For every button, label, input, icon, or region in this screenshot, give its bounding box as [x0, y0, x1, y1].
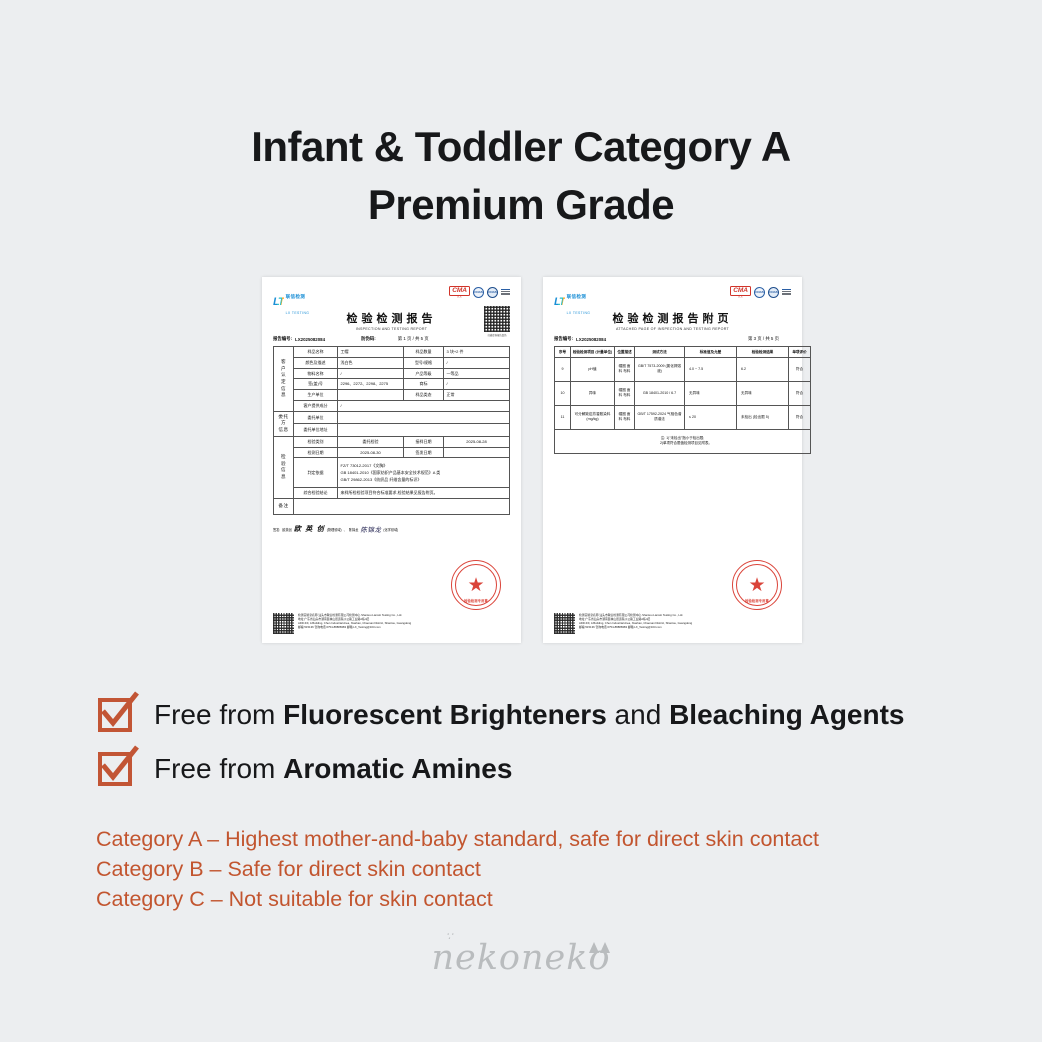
section-label-inspection: 检验信息: [274, 436, 294, 498]
footer-qr-code-icon: [273, 613, 294, 634]
feature-checklist: Free from Fluorescent Brighteners and Bl…: [96, 695, 996, 803]
report-main-table: 客户认定信息 样品名称 工帽 样品数量 3 块+2 件 颜色及描述 浅白色 型号…: [273, 346, 510, 515]
inspection-report-attached-page-document[interactable]: LT 联信检测 LX TESTING CMA 认定 CNAS CNAS: [543, 277, 802, 643]
note-item: 1)"未检出"指小于检出限;: [666, 436, 704, 440]
cell-key: 样品名称: [294, 347, 338, 358]
cell-item: 可分解致癌芳香胺染料 (mg/kg): [571, 405, 615, 429]
cell-key: 委托单位: [294, 411, 338, 423]
report-title-en: ATTACHED PAGE OF INSPECTION AND TESTING …: [554, 327, 791, 331]
table-row: 物料名称 / 产品等级 一等品: [274, 368, 510, 379]
basis-values: FZ/T 73012-2017《文胸》 GB 18401-2010《国家纺织产品…: [338, 458, 510, 488]
table-row: 判定依据 FZ/T 73012-2017《文胸》 GB 18401-2010《国…: [274, 458, 510, 488]
document-footer: 检测实验室名称:汕头市联信检测有限公司检测中心 Shantou Lianxin …: [273, 613, 510, 634]
cell-value: [338, 411, 510, 423]
category-line-b: Category B – Safe for direct skin contac…: [96, 854, 996, 884]
cell-key2: 商标: [404, 379, 444, 390]
cell-key: 签(盖)号: [294, 379, 338, 390]
cell-key: 物料名称: [294, 368, 338, 379]
column-header-no: 序号: [555, 347, 571, 358]
report-no-value: LX2025082084: [295, 337, 325, 342]
column-header-method: 测试方法: [635, 347, 685, 358]
category-line-c: Category C – Not suitable for skin conta…: [96, 884, 996, 914]
report-no-label: 报告编号:: [273, 336, 292, 342]
document-header: LT 联信检测 LX TESTING CMA 认定 CNAS CNAS: [273, 286, 510, 302]
cell-no: 9: [555, 357, 571, 381]
table-row: 生产单位 样品类态 正常: [274, 390, 510, 401]
category-line-a: Category A – Highest mother-and-baby sta…: [96, 824, 996, 854]
sparkle-icon: ∵: [445, 930, 453, 943]
cell-no: 11: [555, 405, 571, 429]
cell-value: [338, 390, 404, 401]
table-row: 11 可分解致癌芳香胺染料 (mg/kg) 帽圈 面料 布料 GB/T 1759…: [555, 405, 811, 429]
cell-key2: 接样日期: [404, 436, 444, 447]
cell-value2: 3 块+2 件: [444, 347, 510, 358]
footer-qr-code-icon: [554, 613, 575, 634]
accreditation-badges: CMA 认定 CNAS CNAS: [449, 286, 510, 298]
checklist-part-bold: Aromatic Amines: [283, 753, 512, 784]
cnas-badge-2: CNAS: [768, 287, 779, 298]
cnas-badge-2: CNAS: [487, 287, 498, 298]
official-red-seal: ★ 检验检测专用章: [451, 560, 501, 610]
accreditation-badge: [782, 289, 791, 296]
cell-value: [338, 424, 510, 436]
page-indicator: 第 3 页 / 共 5 页: [748, 336, 779, 342]
category-legend: Category A – Highest mother-and-baby sta…: [96, 824, 996, 914]
cell-standard: 无异味: [685, 381, 737, 405]
report-title-block: 检验检测报告 INSPECTION AND TESTING REPORT 扫描查…: [273, 310, 510, 331]
column-header-item: 检验检测项目 (计量单位): [571, 347, 615, 358]
cell-key2: 型号/规格: [404, 357, 444, 368]
basis-line: GB/T 29862-2013《纺织品 纤维含量的标识》: [341, 477, 507, 483]
footer-line: 邮编:515136 咨询电话:0754-88888383 邮箱:LX_Testi…: [298, 625, 411, 629]
section-label-client: 委托方信息: [274, 411, 294, 436]
cell-value2: [444, 447, 510, 458]
page-title: Infant & Toddler Category A Premium Grad…: [0, 118, 1042, 234]
verification-qr-code-icon: [484, 306, 510, 332]
checklist-text: Free from Aromatic Amines: [154, 752, 512, 786]
signature-field-1: (物理领域): [327, 527, 342, 532]
cma-badge-sub: 认定: [738, 296, 743, 299]
notes-label: 注:: [661, 436, 665, 440]
table-row: 检验信息 检验类别 委托检验 接样日期 2025-08-28: [274, 436, 510, 447]
cell-method: GB 18401-2010 / 6.7: [635, 381, 685, 405]
basis-line: FZ/T 73012-2017《文胸》: [341, 463, 507, 469]
table-row: 综合检验结论 来样所检检验项目符合标准要求,检验结果见报告附页。: [274, 488, 510, 499]
cell-value: 2296、2272、2298、2275: [338, 379, 404, 390]
page-title-line-2: Premium Grade: [0, 176, 1042, 234]
cnas-badge-1: CNAS: [754, 287, 765, 298]
section-label-customer: 客户认定信息: [274, 347, 294, 412]
signature-field-2: (化学领域): [383, 527, 398, 532]
cell-position: 帽圈 面料 布料: [615, 357, 635, 381]
cell-value: 2025-08-30: [338, 447, 404, 458]
inspection-report-document[interactable]: LT 联信检测 LX TESTING CMA 认定 CNAS CNAS: [262, 277, 521, 643]
signature-handwriting-2: 陈锦龙: [360, 524, 381, 534]
cma-badge: CMA 认定: [449, 286, 470, 298]
report-title-cn: 检验检测报告附页: [554, 310, 791, 326]
note-item: 2)单项符合限值检测项目见附表。: [558, 441, 808, 447]
lt-logo-mark: LT: [273, 296, 284, 308]
checklist-part: Free from: [154, 753, 283, 784]
table-row: 客户认定信息 样品名称 工帽 样品数量 3 块+2 件: [274, 347, 510, 358]
seal-star-icon: ★: [748, 576, 765, 595]
basis-label: 判定依据: [294, 458, 338, 488]
report-title-block: 检验检测报告附页 ATTACHED PAGE OF INSPECTION AND…: [554, 310, 791, 331]
cell-value2: /: [444, 379, 510, 390]
cell-key: 检测日期: [294, 447, 338, 458]
cell-standard: ≤ 20: [685, 405, 737, 429]
table-row: 9 pH值 帽圈 面料 布料 GB/T 7573-2009 (氯化钾溶液) 4.…: [555, 357, 811, 381]
cell-value2: 正常: [444, 390, 510, 401]
cell-value: /: [338, 400, 510, 411]
table-row: 颜色及描述 浅白色 型号/规格 /: [274, 357, 510, 368]
checklist-part-bold: Bleaching Agents: [669, 699, 904, 730]
cnas-badge-1: CNAS: [473, 287, 484, 298]
seal-bottom-text: 检验检测专用章: [733, 598, 781, 603]
cell-judgement: 符合: [789, 381, 811, 405]
report-no-label: 报告编号:: [554, 336, 573, 342]
cma-badge: CMA 认定: [730, 286, 751, 298]
checked-checkbox-icon: [96, 695, 136, 735]
signature-separator: 、: [344, 527, 347, 532]
lt-logo-cn: 联信检测: [286, 294, 306, 299]
table-row: 备注: [274, 499, 510, 515]
cell-judgement: 符合: [789, 357, 811, 381]
table-row: 委托方信息 委托单位: [274, 411, 510, 423]
checklist-part-bold: Fluorescent Brighteners: [283, 699, 607, 730]
official-red-seal: ★ 检验检测专用章: [732, 560, 782, 610]
cell-method: GB/T 17592-2024 气相色谱质谱法: [635, 405, 685, 429]
cell-value: 浅白色: [338, 357, 404, 368]
table-notes-row: 注: 1)"未检出"指小于检出限; 2)单项符合限值检测项目见附表。: [555, 429, 811, 453]
signature-prefix: 签发:: [273, 527, 280, 532]
signatory-name-2: 陈锦龙: [349, 527, 359, 532]
report-no-value: LX2025082084: [576, 337, 606, 342]
table-row: 签(盖)号 2296、2272、2298、2275 商标 /: [274, 379, 510, 390]
report-title-en: INSPECTION AND TESTING REPORT: [273, 327, 510, 331]
cell-value2: 一等品: [444, 368, 510, 379]
cell-value2: 2025-08-28: [444, 436, 510, 447]
seal-code-label: 防伪码:: [361, 336, 376, 342]
test-results-table: 序号 检验检测项目 (计量单位) 位置描述 测试方法 标准值及允差 检验检测结果…: [554, 346, 811, 454]
cell-method: GB/T 7573-2009 (氯化钾溶液): [635, 357, 685, 381]
cell-key2: 样品数量: [404, 347, 444, 358]
cell-position: 帽圈 面料 布料: [615, 405, 635, 429]
column-header-result: 检验检测结果: [737, 347, 789, 358]
cat-ears-icon: [589, 942, 615, 960]
table-row: 10 异味 帽圈 面料 布料 GB 18401-2010 / 6.7 无异味 无…: [555, 381, 811, 405]
report-title-cn: 检验检测报告: [273, 310, 510, 326]
accreditation-badge: [501, 289, 510, 296]
cell-position: 帽圈 面料 布料: [615, 381, 635, 405]
table-row: 委托单位地址: [274, 424, 510, 436]
table-header-row: 序号 检验检测项目 (计量单位) 位置描述 测试方法 标准值及允差 检验检测结果…: [555, 347, 811, 358]
table-row: 检测日期 2025-08-30 签发日期: [274, 447, 510, 458]
checklist-part: Free from: [154, 699, 283, 730]
document-footer: 检测实验室名称:汕头市联信检测有限公司检测中心 Shantou Lianxin …: [554, 613, 791, 634]
remarks-value: [294, 499, 510, 515]
remarks-label: 备注: [274, 499, 294, 515]
cell-item: 异味: [571, 381, 615, 405]
page-indicator: 第 1 页 / 共 5 页: [398, 336, 429, 342]
cell-key: 颜色及描述: [294, 357, 338, 368]
table-row: 客户提供成分 /: [274, 400, 510, 411]
cell-value: /: [338, 368, 404, 379]
footer-line: 邮编:515136 咨询电话:0754-88888383 邮箱:LX_Testi…: [579, 625, 692, 629]
lt-logo-cn: 联信检测: [567, 294, 587, 299]
column-header-judgement: 单项评价: [789, 347, 811, 358]
conclusion-value: 来样所检检验项目符合标准要求,检验结果见报告附页。: [338, 488, 510, 499]
brand-logo: ∵ nekoneko: [0, 938, 1042, 978]
cell-key: 委托单位地址: [294, 424, 338, 436]
column-header-position: 位置描述: [615, 347, 635, 358]
report-meta: 报告编号: LX2025082084 第 3 页 / 共 5 页: [554, 336, 791, 342]
seal-bottom-text: 检验检测专用章: [452, 598, 500, 603]
certificate-images: LT 联信检测 LX TESTING CMA 认定 CNAS CNAS: [262, 277, 803, 643]
cell-result: 无异味: [737, 381, 789, 405]
cell-value: 委托检验: [338, 436, 404, 447]
signature-line: 签发: 欧英创 欧 英 创 (物理领域) 、 陈锦龙 陈锦龙 (化学领域): [273, 524, 510, 534]
list-item: Free from Fluorescent Brighteners and Bl…: [96, 695, 996, 735]
page-title-line-1: Infant & Toddler Category A: [0, 118, 1042, 176]
cell-value: 工帽: [338, 347, 404, 358]
cell-key: 生产单位: [294, 390, 338, 401]
signature-handwriting-1: 欧 英 创: [294, 524, 325, 534]
conclusion-label: 综合检验结论: [294, 488, 338, 499]
qr-caption: 扫描查询报告真伪: [484, 333, 510, 337]
cell-key2: 样品类态: [404, 390, 444, 401]
checklist-part: and: [607, 699, 669, 730]
checklist-text: Free from Fluorescent Brighteners and Bl…: [154, 698, 905, 732]
report-meta: 报告编号: LX2025082084 防伪码: 第 1 页 / 共 5 页: [273, 336, 510, 342]
cell-judgement: 符合: [789, 405, 811, 429]
cell-standard: 4.0 ~ 7.5: [685, 357, 737, 381]
cell-key: 客户提供成分: [294, 400, 338, 411]
accreditation-badges: CMA 认定 CNAS CNAS: [730, 286, 791, 298]
lt-logo-mark: LT: [554, 296, 565, 308]
cell-value2: /: [444, 357, 510, 368]
document-header: LT 联信检测 LX TESTING CMA 认定 CNAS CNAS: [554, 286, 791, 302]
table-notes: 注: 1)"未检出"指小于检出限; 2)单项符合限值检测项目见附表。: [555, 429, 811, 453]
column-header-standard: 标准值及允差: [685, 347, 737, 358]
cell-item: pH值: [571, 357, 615, 381]
basis-line: GB 18401-2010《国家纺织产品基本安全技术规范》A 类: [341, 470, 507, 476]
checked-checkbox-icon: [96, 749, 136, 789]
cell-result: 未检出 (检出限 5): [737, 405, 789, 429]
brand-name: nekoneko: [431, 938, 610, 978]
seal-star-icon: ★: [467, 576, 484, 595]
signatory-name-1: 欧英创: [282, 527, 292, 532]
cma-badge-sub: 认定: [457, 296, 462, 299]
cell-key: 检验类别: [294, 436, 338, 447]
cell-key2: 签发日期: [404, 447, 444, 458]
cell-key2: 产品等级: [404, 368, 444, 379]
cell-result: 6.2: [737, 357, 789, 381]
cell-no: 10: [555, 381, 571, 405]
list-item: Free from Aromatic Amines: [96, 749, 996, 789]
